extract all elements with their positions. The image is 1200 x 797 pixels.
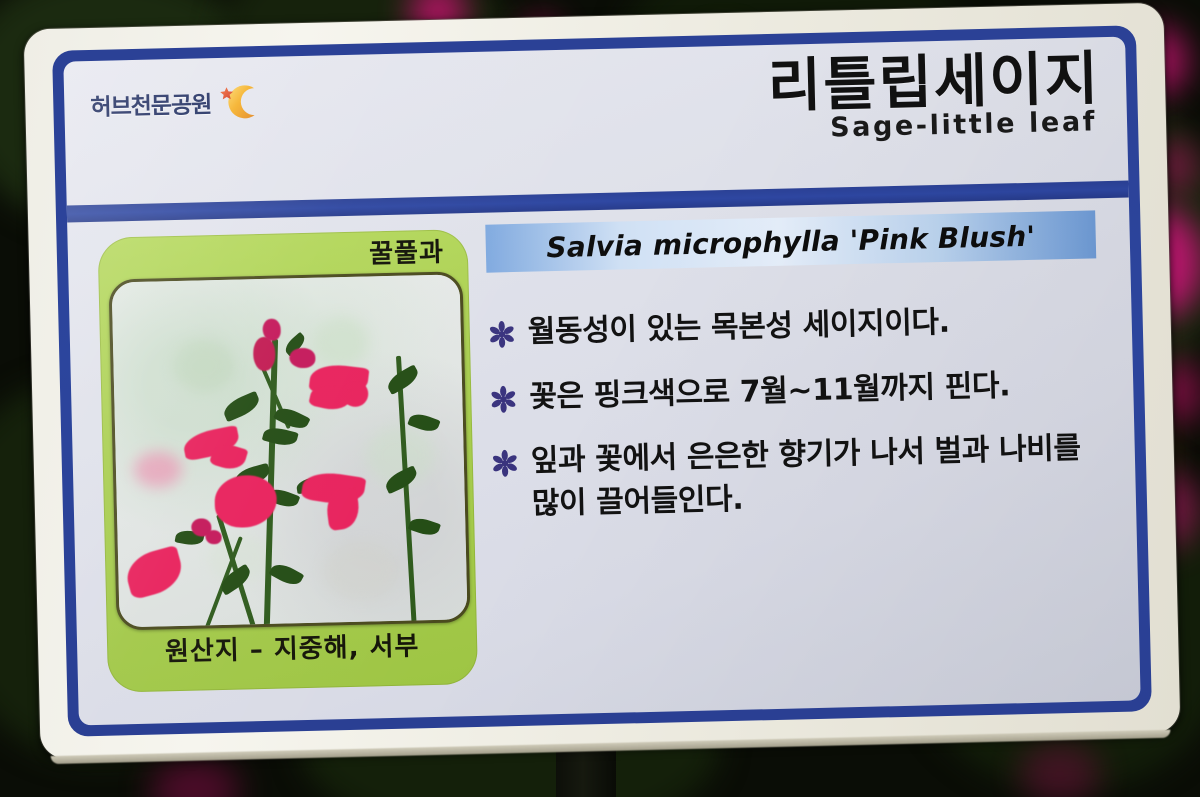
photo-column: 꿀풀과 bbox=[67, 227, 478, 725]
sign-body: 꿀풀과 bbox=[67, 198, 1141, 726]
scientific-name-banner: Salvia microphylla 'Pink Blush' bbox=[485, 210, 1096, 272]
list-item: 꽃은 핑크색으로 7월~11월까지 핀다. bbox=[489, 363, 1100, 420]
plant-name-korean: 리틀립세이지 bbox=[767, 49, 1100, 116]
plant-title: 리틀립세이지 Sage-little leaf bbox=[767, 49, 1101, 145]
list-item: 월동성이 있는 목본성 세이지이다. bbox=[487, 298, 1098, 355]
description-list: 월동성이 있는 목본성 세이지이다. bbox=[487, 298, 1102, 527]
flower-bullet-icon bbox=[491, 449, 520, 478]
list-item-text: 잎과 꽃에서 은은한 향기가 나서 벌과 나비를 많이 끌어들인다. bbox=[530, 427, 1102, 526]
flower-bullet-icon bbox=[488, 320, 517, 349]
list-item-text: 꽃은 핑크색으로 7월~11월까지 핀다. bbox=[529, 365, 1011, 419]
park-brand: 허브천문공원 bbox=[90, 81, 262, 125]
sign-blue-frame: 허브천문공원 bbox=[52, 25, 1152, 736]
photo-card: 꿀풀과 bbox=[97, 229, 478, 693]
plant-origin-label: 원산지 – 지중해, 서부 bbox=[117, 623, 468, 669]
scientific-name: Salvia microphylla 'Pink Blush' bbox=[546, 219, 1036, 264]
park-brand-label: 허브천문공원 bbox=[90, 85, 212, 122]
sign-header: 허브천문공원 bbox=[63, 37, 1128, 206]
information-sign: 허브천문공원 bbox=[24, 3, 1181, 760]
flower-bullet-icon bbox=[489, 385, 518, 414]
description-column: Salvia microphylla 'Pink Blush' bbox=[467, 212, 1140, 716]
plant-photo bbox=[108, 272, 470, 631]
crescent-moon-star-icon bbox=[217, 81, 262, 122]
photo-scene: 허브천문공원 bbox=[0, 0, 1200, 797]
sign-content-panel: 허브천문공원 bbox=[63, 37, 1140, 726]
list-item: 잎과 꽃에서 은은한 향기가 나서 벌과 나비를 많이 끌어들인다. bbox=[490, 427, 1102, 527]
list-item-text: 월동성이 있는 목본성 세이지이다. bbox=[527, 302, 950, 355]
